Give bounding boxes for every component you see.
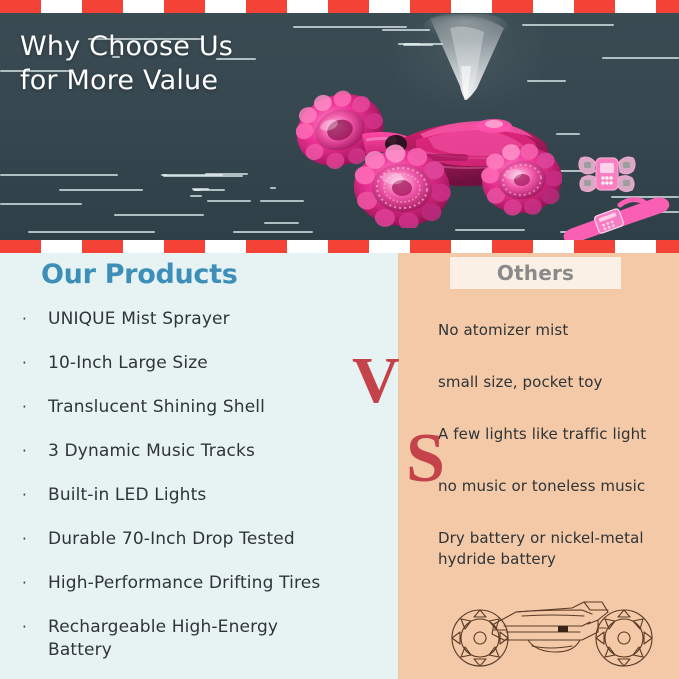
bullet-icon: ·	[20, 352, 36, 375]
list-item: Dry battery or nickel-metal hydride batt…	[438, 528, 670, 570]
list-item: no music or toneless music	[438, 476, 670, 497]
road-lane-mark	[527, 80, 566, 82]
list-item: · Durable 70-Inch Drop Tested	[20, 528, 380, 551]
road-lane-mark	[522, 24, 614, 26]
bullet-icon: ·	[20, 484, 36, 507]
others-list: No atomizer mist small size, pocket toy …	[438, 320, 670, 601]
list-item: · Built-in LED Lights	[20, 484, 380, 507]
road-lane-mark	[161, 174, 167, 176]
road-lane-mark	[602, 57, 679, 59]
bullet-icon: ·	[20, 616, 36, 639]
list-item: · Rechargeable High-Energy Battery	[20, 616, 380, 662]
road-lane-mark	[293, 26, 407, 28]
road-lane-mark	[233, 231, 313, 233]
list-item-label: Durable 70-Inch Drop Tested	[48, 528, 380, 551]
bullet-icon: ·	[20, 308, 36, 331]
list-item-label: High-Performance Drifting Tires	[48, 572, 380, 595]
list-item: · Translucent Shining Shell	[20, 396, 380, 419]
pink-remote-controller	[575, 150, 639, 198]
versus-letter-s: S	[406, 424, 445, 494]
list-item: · UNIQUE Mist Sprayer	[20, 308, 380, 331]
list-item: · High-Performance Drifting Tires	[20, 572, 380, 595]
versus-letter-v: V	[352, 348, 400, 414]
list-item-label: Rechargeable High-Energy Battery	[48, 616, 380, 662]
others-title: Others	[497, 261, 574, 285]
checker-stripe-bottom	[0, 240, 679, 253]
list-item-label: 3 Dynamic Music Tracks	[48, 440, 380, 463]
list-item-label: Built-in LED Lights	[48, 484, 380, 507]
our-products-list: · UNIQUE Mist Sprayer · 10-Inch Large Si…	[20, 308, 380, 679]
product-comparison-infographic: Why Choose Us for More Value Our Product…	[0, 0, 679, 679]
pink-rc-stunt-car	[296, 88, 562, 228]
hero-road-banner: Why Choose Us for More Value	[0, 0, 679, 253]
road-lane-mark	[0, 174, 118, 176]
road-lane-mark	[264, 222, 299, 224]
bullet-icon: ·	[20, 572, 36, 595]
road-lane-mark	[194, 189, 201, 191]
list-item: · 10-Inch Large Size	[20, 352, 380, 375]
road-lane-mark	[114, 214, 204, 216]
road-lane-mark	[190, 195, 202, 197]
road-lane-mark	[270, 187, 276, 189]
road-lane-mark	[404, 43, 420, 45]
road-lane-mark	[0, 203, 82, 205]
road-lane-mark	[59, 189, 143, 191]
road-lane-mark	[455, 229, 525, 231]
pink-gesture-watch-controller	[560, 195, 675, 243]
list-item-label: 10-Inch Large Size	[48, 352, 380, 375]
list-item: · 3 Dynamic Music Tracks	[20, 440, 380, 463]
others-title-banner: Others	[450, 257, 621, 289]
bullet-icon: ·	[20, 440, 36, 463]
road-lane-mark	[28, 231, 155, 233]
hero-title: Why Choose Us for More Value	[20, 30, 233, 98]
our-products-title: Our Products	[41, 259, 237, 290]
bullet-icon: ·	[20, 528, 36, 551]
list-item-label: Translucent Shining Shell	[48, 396, 380, 419]
stunt-car-line-drawing	[432, 590, 672, 675]
checker-stripe-top	[0, 0, 679, 13]
road-lane-mark	[207, 200, 251, 202]
list-item: No atomizer mist	[438, 320, 670, 341]
road-lane-mark	[205, 173, 248, 175]
list-item-label: UNIQUE Mist Sprayer	[48, 308, 380, 331]
bullet-icon: ·	[20, 396, 36, 419]
list-item: small size, pocket toy	[438, 372, 670, 393]
list-item: A few lights like traffic light	[438, 424, 670, 445]
